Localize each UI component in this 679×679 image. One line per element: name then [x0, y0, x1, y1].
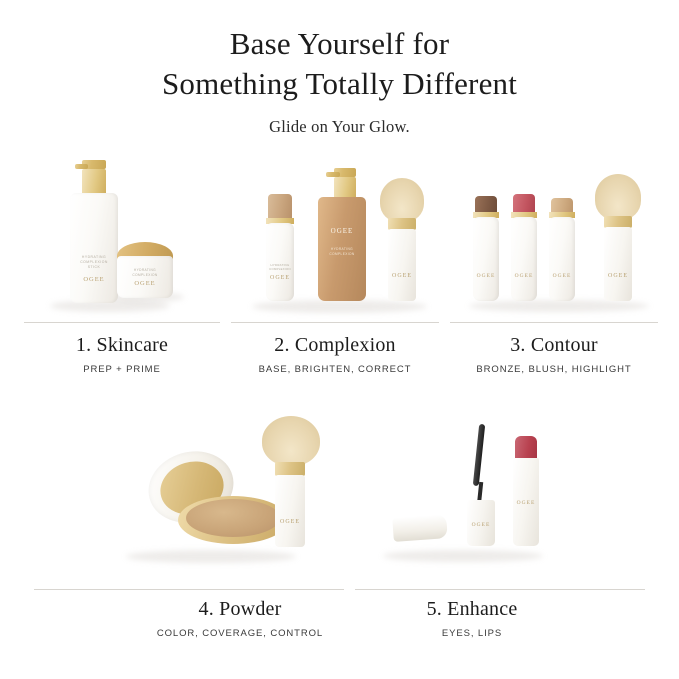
shadow	[469, 300, 649, 312]
divider-powder	[34, 589, 344, 590]
brush-bristles	[262, 416, 320, 466]
divider-skincare	[24, 322, 220, 323]
step-title: 4. Powder	[127, 598, 353, 621]
stick-product	[268, 194, 292, 220]
brand-logo: OGEE	[275, 519, 305, 525]
shadow	[252, 300, 427, 313]
brand-logo: OGEE	[473, 273, 499, 279]
brush-bristles	[380, 178, 424, 222]
header: Base Yourself for Something Totally Diff…	[0, 24, 679, 137]
step-title: 5. Enhance	[359, 598, 585, 621]
brush-ferrule	[275, 462, 305, 476]
brand-logo: OGEE	[266, 275, 294, 281]
divider-enhance	[355, 589, 645, 590]
brand-logo: OGEE	[70, 276, 118, 283]
caption-skincare: 1. Skincare PREP + PRIME	[9, 334, 235, 375]
brand-logo: OGEE	[604, 273, 632, 279]
mascara-brush-bristles	[473, 424, 485, 486]
caption-enhance: 5. Enhance EYES, LIPS	[359, 598, 585, 639]
scene-powder: OGEE	[120, 400, 345, 572]
brush-handle: OGEE	[604, 227, 632, 301]
scene-enhance: OGEE OGEE	[375, 400, 575, 572]
caption-complexion: 2. Complexion BASE, BRIGHTEN, CORRECT	[222, 334, 448, 375]
headline-line-1: Base Yourself for	[0, 24, 679, 64]
divider-contour	[450, 322, 658, 323]
step-title: 1. Skincare	[9, 334, 235, 357]
step-subtitle: COLOR, COVERAGE, CONTROL	[127, 628, 353, 639]
brand-logo: OGEE	[549, 273, 575, 279]
bottle-body: HYDRATING COMPLEXION OGEE	[318, 197, 366, 301]
step-subtitle: EYES, LIPS	[359, 628, 585, 639]
page-subtitle: Glide on Your Glow.	[0, 117, 679, 137]
headline-line-2: Something Totally Different	[0, 64, 679, 104]
lip-crayon-body: OGEE	[513, 458, 539, 546]
pump-collar	[82, 169, 106, 195]
jar-body: HYDRATING COMPLEXION OGEE	[117, 256, 173, 298]
shadow	[383, 550, 543, 562]
product-label: HYDRATING COMPLEXION	[132, 268, 157, 278]
brush-bristles	[595, 174, 641, 220]
pressed-powder-pan	[186, 499, 280, 537]
step-title: 3. Contour	[441, 334, 667, 357]
lip-crayon-tip	[515, 436, 537, 460]
scene-skincare: HYDRATING COMPLEXION STICK OGEE HYDRATIN…	[20, 152, 220, 322]
step-title: 2. Complexion	[222, 334, 448, 357]
step-subtitle: BRONZE, BLUSH, HIGHLIGHT	[441, 364, 667, 375]
brush-handle: OGEE	[275, 475, 305, 547]
product-lineup-infographic: Base Yourself for Something Totally Diff…	[0, 0, 679, 679]
scene-contour: OGEE OGEE OGEE	[455, 152, 665, 322]
row-1-products: HYDRATING COMPLEXION STICK OGEE HYDRATIN…	[0, 152, 679, 322]
scene-complexion: HYDRATING COMPLEXION OGEE HYDRATING C	[230, 152, 445, 322]
product-label: HYDRATING COMPLEXION	[329, 247, 354, 257]
row-2-products: OGEE OGEE	[0, 400, 679, 572]
brand-logo: OGEE	[117, 280, 173, 287]
stick-body: OGEE	[473, 217, 499, 301]
product-cap	[392, 514, 448, 542]
bottle-body: HYDRATING COMPLEXION STICK OGEE	[70, 193, 118, 303]
stick-body: OGEE	[511, 217, 537, 301]
step-subtitle: BASE, BRIGHTEN, CORRECT	[222, 364, 448, 375]
product-label: HYDRATING COMPLEXION	[269, 263, 291, 271]
shadow	[126, 550, 296, 563]
pump-collar	[334, 177, 356, 199]
caption-contour: 3. Contour BRONZE, BLUSH, HIGHLIGHT	[441, 334, 667, 375]
brush-handle: OGEE	[388, 229, 416, 301]
brand-logo: OGEE	[513, 500, 539, 506]
step-subtitle: PREP + PRIME	[9, 364, 235, 375]
page-title: Base Yourself for Something Totally Diff…	[0, 24, 679, 103]
brand-logo: OGEE	[467, 522, 495, 528]
stick-body: HYDRATING COMPLEXION OGEE	[266, 223, 294, 301]
stick-body: OGEE	[549, 217, 575, 301]
brand-logo: OGEE	[318, 227, 366, 235]
caption-powder: 4. Powder COLOR, COVERAGE, CONTROL	[127, 598, 353, 639]
divider-complexion	[231, 322, 439, 323]
brand-logo: OGEE	[388, 273, 416, 279]
product-label: HYDRATING COMPLEXION STICK	[80, 255, 108, 270]
brand-logo: OGEE	[511, 273, 537, 279]
mascara-tube-body: OGEE	[467, 500, 495, 546]
stick-product	[513, 194, 535, 214]
